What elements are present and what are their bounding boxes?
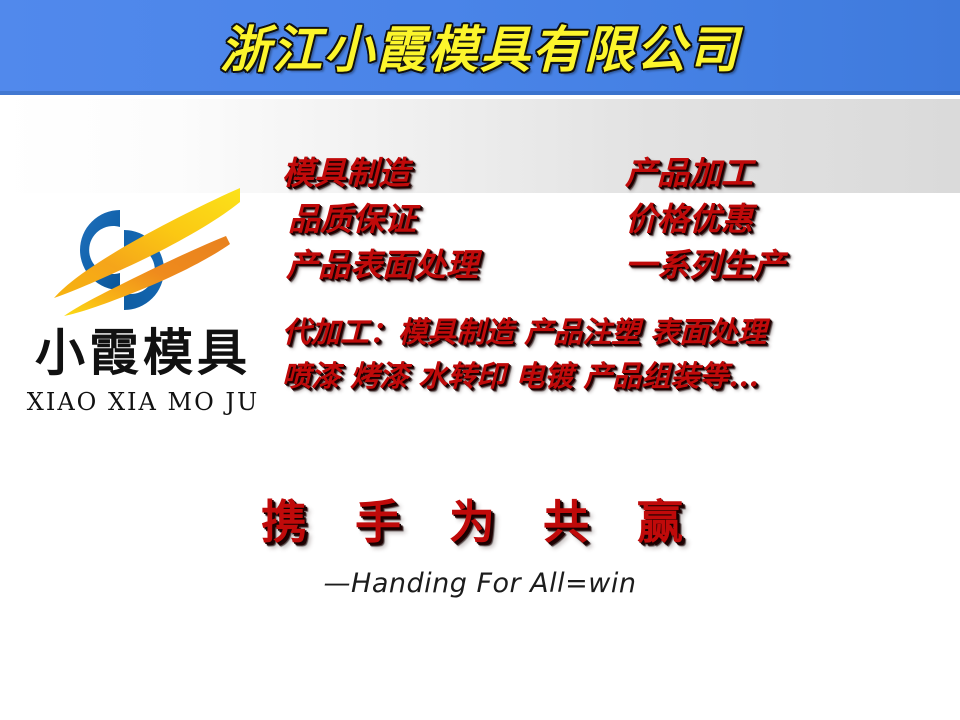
services-left-column: 模具制造 品质保证 产品表面处理 — [282, 150, 478, 288]
oem-services-block: 代加工：模具制造 产品注塑 表面处理 喷漆 烤漆 水转印 电镀 产品组装等... — [282, 310, 766, 398]
service-item: 一系列生产 — [625, 242, 785, 288]
logo-brand-pinyin: XIAO XIA MO JU — [12, 390, 274, 414]
company-logo: 小霞模具 XIAO XIA MO JU — [12, 178, 274, 433]
service-item: 产品加工 — [625, 150, 785, 196]
oem-line: 代加工：模具制造 产品注塑 表面处理 — [282, 310, 766, 354]
company-title: 浙江小霞模具有限公司 — [0, 10, 960, 82]
service-item: 价格优惠 — [625, 196, 785, 242]
services-right-column: 产品加工 价格优惠 一系列生产 — [625, 150, 785, 288]
oem-line: 喷漆 烤漆 水转印 电镀 产品组装等... — [282, 354, 766, 398]
service-item: 产品表面处理 — [282, 242, 478, 288]
slogan-main-text: 携 手 为 共 赢 — [261, 495, 699, 550]
header-banner: 浙江小霞模具有限公司 — [0, 0, 960, 95]
company-intro-slide: 浙江小霞模具有限公司 — [0, 0, 960, 720]
slogan-block: 携 手 为 共 赢 —Handing For All=win — [0, 495, 960, 599]
logo-brand-cn: 小霞模具 — [12, 328, 274, 378]
slogan-sub-text: —Handing For All=win — [0, 568, 960, 599]
service-item: 模具制造 — [282, 150, 478, 196]
logo-wing-loop-icon — [12, 178, 274, 326]
service-item: 品质保证 — [282, 196, 478, 242]
